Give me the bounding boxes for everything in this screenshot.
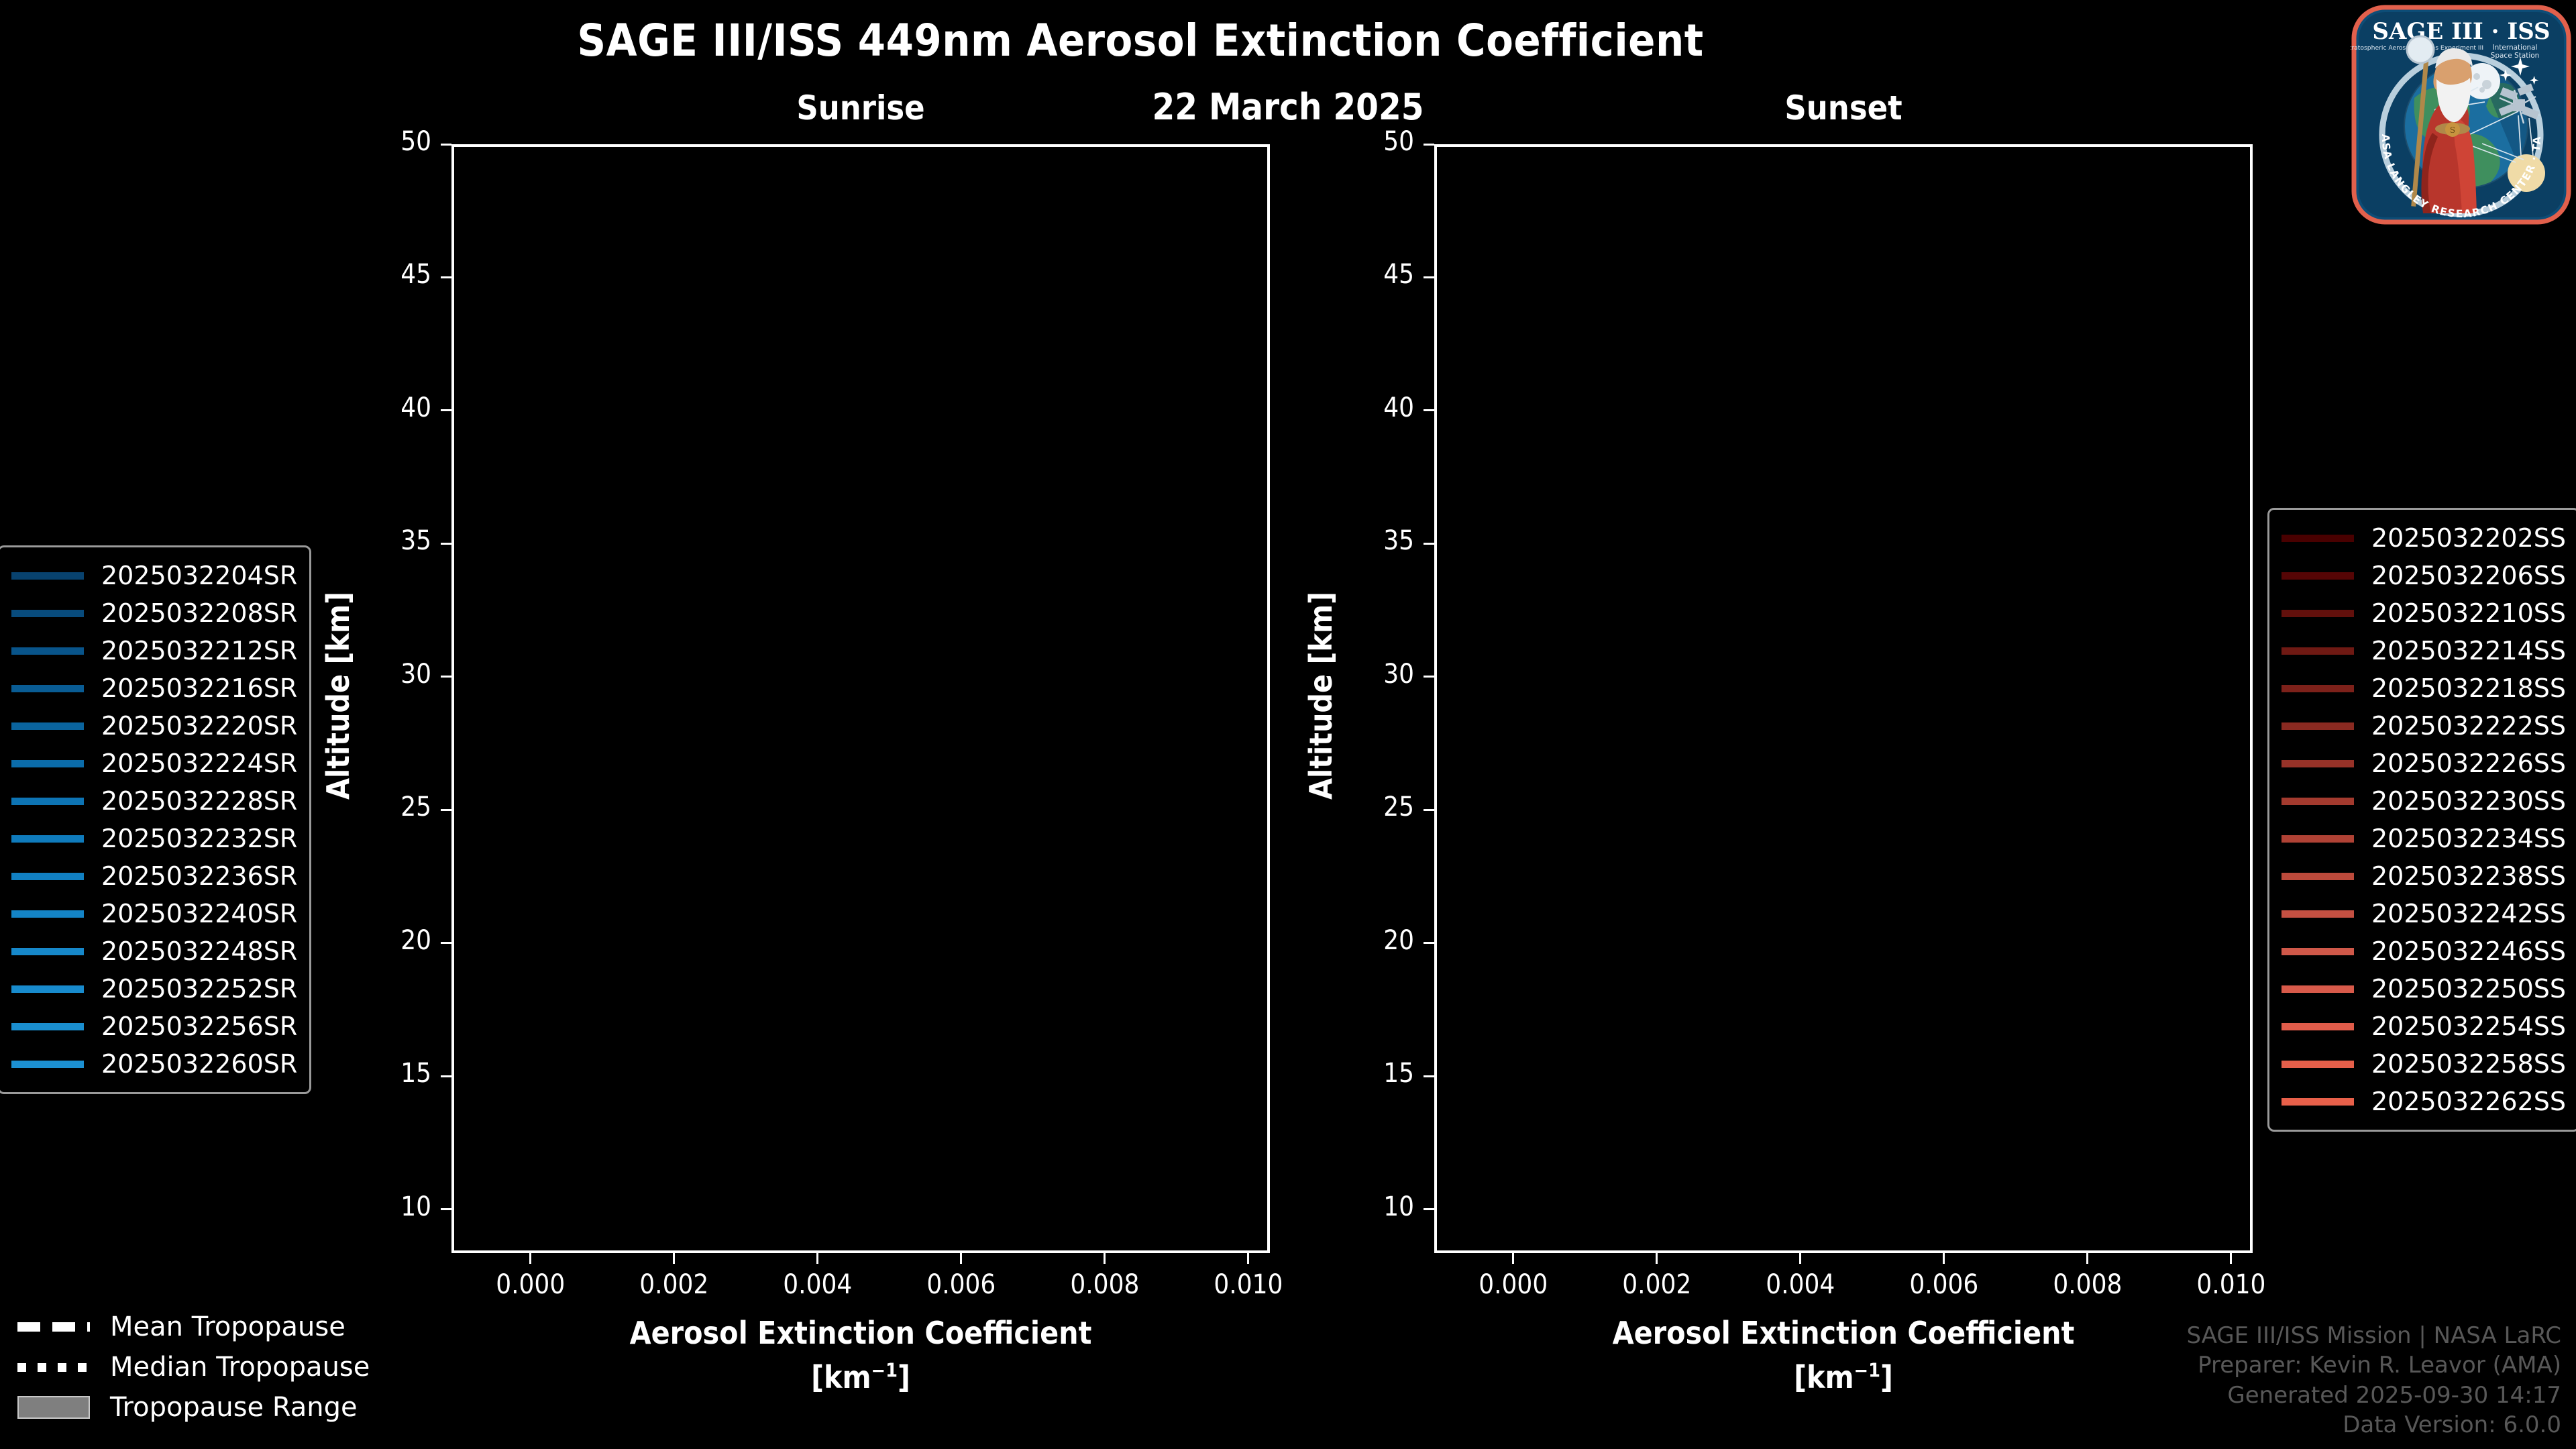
y-tick-label: 10 <box>1334 1191 1414 1222</box>
y-tick-mark <box>441 144 451 146</box>
legend-color-swatch <box>2282 948 2354 955</box>
y-tick-label: 25 <box>351 792 431 822</box>
y-tick-mark <box>1424 942 1434 944</box>
legend-item[interactable]: 2025032226SS <box>2282 745 2566 782</box>
x-tick-label: 0.008 <box>1038 1269 1172 1300</box>
tropopause-key-swatch <box>17 1363 90 1372</box>
legend-item-label: 2025032228SR <box>101 786 297 816</box>
x-tick-mark <box>1247 1253 1249 1264</box>
tropopause-key-swatch <box>17 1322 90 1332</box>
x-tick-mark <box>1512 1253 1514 1264</box>
credit-line: Generated 2025-09-30 14:17 <box>2186 1381 2561 1410</box>
y-tick-mark <box>441 276 451 278</box>
legend-item-label: 2025032214SS <box>2371 636 2566 665</box>
x-axis-label-units: [km−1] <box>1434 1359 2253 1395</box>
x-tick-label: 0.006 <box>1877 1269 2011 1300</box>
legend-item[interactable]: 2025032238SS <box>2282 857 2566 895</box>
legend-item[interactable]: 2025032218SS <box>2282 669 2566 707</box>
legend-color-swatch <box>11 610 84 617</box>
y-tick-mark <box>1424 809 1434 811</box>
y-tick-mark <box>441 942 451 944</box>
legend-item[interactable]: 2025032210SS <box>2282 594 2566 632</box>
legend-item-label: 2025032232SR <box>101 824 297 853</box>
legend-item-label: 2025032210SS <box>2371 598 2566 628</box>
legend-item[interactable]: 2025032216SR <box>11 669 297 707</box>
y-tick-label: 10 <box>351 1191 431 1222</box>
legend-color-swatch <box>11 760 84 767</box>
legend-color-swatch <box>2282 1061 2354 1068</box>
x-tick-mark <box>1799 1253 1801 1264</box>
legend-color-swatch <box>2282 1098 2354 1106</box>
legend-item[interactable]: 2025032224SR <box>11 745 297 782</box>
plot-area-sunrise <box>451 144 1270 1253</box>
x-tick-mark <box>2086 1253 2088 1264</box>
legend-color-swatch <box>11 985 84 993</box>
credit-line: Data Version: 6.0.0 <box>2186 1410 2561 1440</box>
series-line <box>531 144 990 1249</box>
series-line <box>1514 144 1886 1249</box>
legend-item[interactable]: 2025032220SR <box>11 707 297 745</box>
legend-item-label: 2025032258SS <box>2371 1049 2566 1079</box>
legend-item[interactable]: 2025032250SS <box>2282 970 2566 1008</box>
x-tick-mark <box>816 1253 818 1264</box>
y-tick-mark <box>441 409 451 411</box>
legend-item[interactable]: 2025032222SS <box>2282 707 2566 745</box>
legend-item-label: 2025032234SS <box>2371 824 2566 853</box>
x-tick-label: 0.000 <box>464 1269 598 1300</box>
legend-item-label: 2025032216SR <box>101 674 297 703</box>
legend-item[interactable]: 2025032236SR <box>11 857 297 895</box>
legend-item-label: 2025032250SS <box>2371 974 2566 1004</box>
y-tick-mark <box>1424 409 1434 411</box>
y-tick-mark <box>441 676 451 678</box>
legend-item-label: 2025032246SS <box>2371 936 2566 966</box>
legend-color-swatch <box>2282 535 2354 542</box>
x-tick-mark <box>1943 1253 1945 1264</box>
x-tick-label: 0.000 <box>1446 1269 1580 1300</box>
x-tick-mark <box>1104 1253 1106 1264</box>
credit-line: Preparer: Kevin R. Leavor (AMA) <box>2186 1350 2561 1380</box>
credits-block: SAGE III/ISS Mission | NASA LaRCPreparer… <box>2186 1321 2561 1440</box>
y-tick-mark <box>1424 1208 1434 1210</box>
y-tick-label: 20 <box>351 925 431 956</box>
legend-color-swatch <box>2282 685 2354 692</box>
legend-item-label: 2025032248SR <box>101 936 297 966</box>
legend-color-swatch <box>11 647 84 655</box>
legend-item[interactable]: 2025032214SS <box>2282 632 2566 669</box>
sage-iii-iss-logo: SAGE III · ISS Stratospheric Aerosol and… <box>2351 4 2569 223</box>
credit-line: SAGE III/ISS Mission | NASA LaRC <box>2186 1321 2561 1350</box>
y-tick-label: 40 <box>1334 392 1414 423</box>
y-axis-label: Altitude [km] <box>320 592 356 800</box>
y-tick-mark <box>441 809 451 811</box>
legend-item[interactable]: 2025032228SR <box>11 782 297 820</box>
legend-item-label: 2025032256SR <box>101 1012 297 1041</box>
legend-color-swatch <box>2282 647 2354 655</box>
legend-color-swatch <box>11 1023 84 1030</box>
legend-color-swatch <box>11 685 84 692</box>
tropopause-key-label: Mean Tropopause <box>110 1311 345 1342</box>
tropopause-key-swatch <box>17 1396 90 1419</box>
legend-color-swatch <box>2282 910 2354 918</box>
svg-text:S: S <box>2450 125 2455 135</box>
y-tick-label: 35 <box>1334 525 1414 556</box>
legend-item[interactable]: 2025032206SS <box>2282 557 2566 594</box>
legend-item-label: 2025032242SS <box>2371 899 2566 928</box>
legend-item[interactable]: 2025032242SS <box>2282 895 2566 932</box>
plot-panel-sunrise[interactable]: 0.0000.0020.0040.0060.0080.0101015202530… <box>451 144 1270 1253</box>
y-tick-label: 50 <box>351 126 431 157</box>
x-tick-label: 0.010 <box>2164 1269 2298 1300</box>
legend-color-swatch <box>11 835 84 843</box>
x-tick-label: 0.002 <box>607 1269 741 1300</box>
legend-color-swatch <box>2282 1023 2354 1030</box>
tropopause-key: Mean TropopauseMedian TropopauseTropopau… <box>17 1307 370 1428</box>
y-tick-label: 50 <box>1334 126 1414 157</box>
legend-item-label: 2025032260SR <box>101 1049 297 1079</box>
y-tick-mark <box>441 1075 451 1077</box>
x-tick-label: 0.008 <box>2021 1269 2155 1300</box>
x-axis-label: Aerosol Extinction Coefficient[km−1] <box>1434 1315 2253 1395</box>
legend-item-label: 2025032224SR <box>101 749 297 778</box>
legend-color-swatch <box>11 873 84 880</box>
legend-color-swatch <box>2282 985 2354 993</box>
tropopause-key-item: Median Tropopause <box>17 1347 370 1387</box>
tropopause-key-item: Tropopause Range <box>17 1387 370 1428</box>
tropopause-key-label: Median Tropopause <box>110 1352 370 1383</box>
y-tick-label: 35 <box>351 525 431 556</box>
legend-color-swatch <box>2282 873 2354 880</box>
y-tick-mark <box>1424 144 1434 146</box>
svg-text:Space Station: Space Station <box>2491 52 2540 60</box>
x-axis-label-line1: Aerosol Extinction Coefficient <box>1434 1315 2253 1351</box>
plot-area-sunset <box>1434 144 2253 1253</box>
x-tick-mark <box>529 1253 531 1264</box>
legend-item[interactable]: 2025032202SS <box>2282 519 2566 557</box>
y-tick-label: 25 <box>1334 792 1414 822</box>
plot-panel-sunset[interactable]: 0.0000.0020.0040.0060.0080.0101015202530… <box>1434 144 2253 1253</box>
page-title: SAGE III/ISS 449nm Aerosol Extinction Co… <box>0 15 2281 66</box>
legend-item[interactable]: 2025032260SR <box>11 1045 297 1083</box>
legend-item[interactable]: 2025032232SR <box>11 820 297 857</box>
legend-item[interactable]: 2025032256SR <box>11 1008 297 1045</box>
x-tick-label: 0.004 <box>1733 1269 1868 1300</box>
legend-color-swatch <box>2282 835 2354 843</box>
tropopause-key-item: Mean Tropopause <box>17 1307 370 1347</box>
legend-color-swatch <box>11 948 84 955</box>
legend-item-label: 2025032222SS <box>2371 711 2566 741</box>
y-axis-label: Altitude [km] <box>1303 592 1339 800</box>
legend-item[interactable]: 2025032234SS <box>2282 820 2566 857</box>
y-tick-label: 45 <box>351 259 431 290</box>
legend-item-label: 2025032204SR <box>101 561 297 590</box>
legend-item-label: 2025032236SR <box>101 861 297 891</box>
x-tick-mark <box>1656 1253 1658 1264</box>
legend-item[interactable]: 2025032262SS <box>2282 1083 2566 1120</box>
y-tick-mark <box>1424 276 1434 278</box>
y-tick-label: 30 <box>351 659 431 690</box>
x-tick-mark <box>673 1253 675 1264</box>
legend-item-label: 2025032238SS <box>2371 861 2566 891</box>
y-tick-mark <box>441 543 451 545</box>
x-tick-label: 0.002 <box>1590 1269 1724 1300</box>
svg-text:International: International <box>2492 44 2537 52</box>
legend-item[interactable]: 2025032248SR <box>11 932 297 970</box>
svg-text:SAGE III · ISS: SAGE III · ISS <box>2372 18 2550 45</box>
legend-item[interactable]: 2025032258SS <box>2282 1045 2566 1083</box>
legend-item-label: 2025032262SS <box>2371 1087 2566 1116</box>
legend-color-swatch <box>11 910 84 918</box>
legend-item-label: 2025032252SR <box>101 974 297 1004</box>
legend-item-label: 2025032220SR <box>101 711 297 741</box>
legend-item-label: 2025032212SR <box>101 636 297 665</box>
legend-item-label: 2025032226SS <box>2371 749 2566 778</box>
y-tick-label: 15 <box>1334 1058 1414 1089</box>
legend-color-swatch <box>2282 610 2354 617</box>
y-tick-mark <box>1424 676 1434 678</box>
panel-title-sunrise: Sunrise <box>451 89 1270 127</box>
x-tick-mark <box>2230 1253 2232 1264</box>
legend-color-swatch <box>2282 572 2354 580</box>
legend-item[interactable]: 2025032208SR <box>11 594 297 632</box>
legend-color-swatch <box>11 572 84 580</box>
y-tick-label: 45 <box>1334 259 1414 290</box>
legend-item[interactable]: 2025032204SR <box>11 557 297 594</box>
x-axis-label-units: [km−1] <box>451 1359 1270 1395</box>
y-tick-label: 20 <box>1334 925 1414 956</box>
legend-color-swatch <box>2282 760 2354 767</box>
legend-item[interactable]: 2025032246SS <box>2282 932 2566 970</box>
legend-item-label: 2025032218SS <box>2371 674 2566 703</box>
y-tick-mark <box>1424 543 1434 545</box>
legend-color-swatch <box>11 798 84 805</box>
legend-color-swatch <box>2282 722 2354 730</box>
legend-color-swatch <box>11 722 84 730</box>
y-tick-label: 15 <box>351 1058 431 1089</box>
legend-item-label: 2025032202SS <box>2371 523 2566 553</box>
legend-item[interactable]: 2025032230SS <box>2282 782 2566 820</box>
legend-item-label: 2025032208SR <box>101 598 297 628</box>
legend-color-swatch <box>11 1061 84 1068</box>
x-tick-mark <box>960 1253 962 1264</box>
legend-item[interactable]: 2025032212SR <box>11 632 297 669</box>
legend-color-swatch <box>2282 798 2354 805</box>
legend-item-label: 2025032230SS <box>2371 786 2566 816</box>
y-tick-mark <box>1424 1075 1434 1077</box>
legend-sunset[interactable]: 2025032202SS2025032206SS2025032210SS2025… <box>2267 508 2576 1132</box>
legend-item[interactable]: 2025032252SR <box>11 970 297 1008</box>
x-tick-label: 0.010 <box>1181 1269 1316 1300</box>
x-axis-label-line1: Aerosol Extinction Coefficient <box>451 1315 1270 1351</box>
tropopause-key-label: Tropopause Range <box>110 1392 358 1423</box>
legend-item-label: 2025032254SS <box>2371 1012 2566 1041</box>
legend-item-label: 2025032206SS <box>2371 561 2566 590</box>
x-tick-label: 0.006 <box>894 1269 1028 1300</box>
y-tick-mark <box>441 1208 451 1210</box>
x-tick-label: 0.004 <box>751 1269 885 1300</box>
legend-item[interactable]: 2025032254SS <box>2282 1008 2566 1045</box>
y-tick-label: 30 <box>1334 659 1414 690</box>
y-tick-label: 40 <box>351 392 431 423</box>
legend-item-label: 2025032240SR <box>101 899 297 928</box>
panel-title-sunset: Sunset <box>1434 89 2253 127</box>
x-axis-label: Aerosol Extinction Coefficient[km−1] <box>451 1315 1270 1395</box>
legend-item[interactable]: 2025032240SR <box>11 895 297 932</box>
legend-sunrise[interactable]: 2025032204SR2025032208SR2025032212SR2025… <box>0 545 311 1094</box>
